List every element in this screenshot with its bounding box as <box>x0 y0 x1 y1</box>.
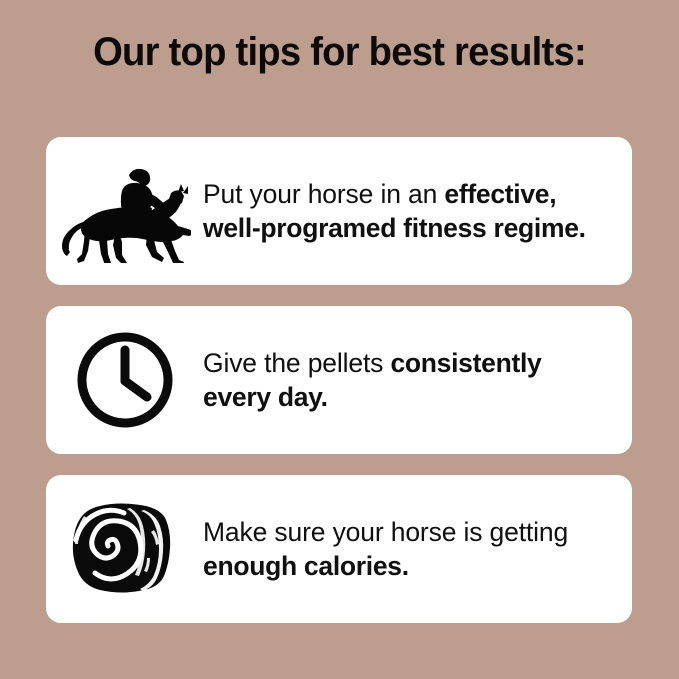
tips-list: Put your horse in an effective, well-pro… <box>46 137 632 623</box>
tips-poster: Our top tips for best results: <box>0 0 679 679</box>
tip-icon-cell <box>46 306 203 454</box>
tip-text: Make sure your horse is getting enough c… <box>203 515 613 583</box>
horse-rider-icon <box>59 159 191 263</box>
tip-lead-text: Give the pellets <box>203 348 390 378</box>
tip-card-horse-fitness: Put your horse in an effective, well-pro… <box>46 137 632 285</box>
tip-text: Give the pellets consistently every day. <box>203 346 613 414</box>
tip-card-calories: Make sure your horse is getting enough c… <box>46 475 632 623</box>
tip-emphasis-text: enough calories. <box>203 551 409 581</box>
hay-bale-icon <box>70 500 180 598</box>
tip-lead-text: Put your horse in an <box>203 179 444 209</box>
clock-icon <box>73 328 177 432</box>
tip-lead-text: Make sure your horse is getting <box>203 517 568 547</box>
tip-card-consistency: Give the pellets consistently every day. <box>46 306 632 454</box>
page-title: Our top tips for best results: <box>15 30 663 75</box>
tip-icon-cell <box>46 137 203 285</box>
tip-icon-cell <box>46 475 203 623</box>
tip-text: Put your horse in an effective, well-pro… <box>203 177 613 245</box>
